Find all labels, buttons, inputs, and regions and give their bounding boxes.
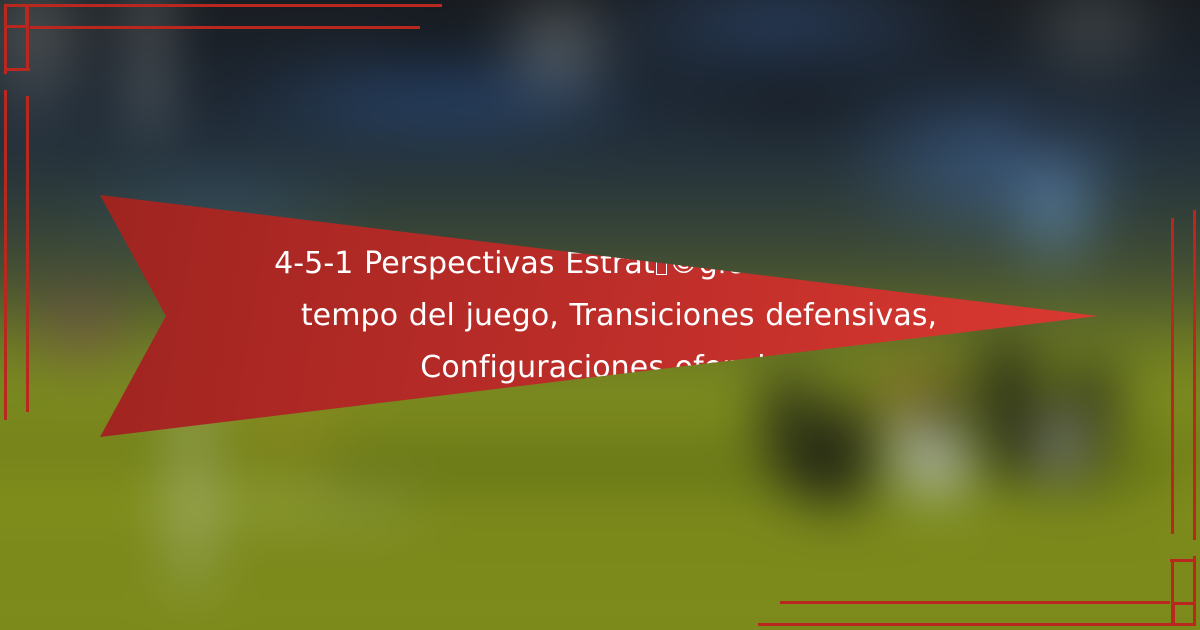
corner-line-horizontal-inner — [780, 601, 1170, 604]
magenta-color-patch — [17, 267, 144, 384]
corner-line-horizontal-outer — [758, 623, 1178, 626]
corner-line-connector — [1170, 559, 1196, 562]
corner-ornament-top-left — [0, 0, 200, 180]
corner-square — [4, 4, 28, 28]
corner-line-vertical-long-inner — [1171, 218, 1174, 534]
corner-line-vertical-long-inner — [26, 96, 29, 412]
blue-hoarding-right — [833, 77, 1151, 257]
corner-line-horizontal-outer — [22, 4, 442, 7]
player-kit-blue — [1008, 130, 1103, 289]
corner-line-connector — [4, 68, 30, 71]
corner-ornament-bottom-right — [1000, 450, 1200, 630]
crowd-highlight-right — [1013, 0, 1172, 87]
corner-line-horizontal-inner — [30, 26, 420, 29]
corner-line-vertical-long-outer — [1193, 210, 1196, 540]
corner-line-vertical-long-outer — [4, 90, 7, 420]
corner-square — [1172, 602, 1196, 626]
blue-hoarding-center — [579, 0, 982, 87]
banner-stage: 4-5-1 Perspectivas Estrat©gicas: Control… — [0, 0, 1200, 630]
